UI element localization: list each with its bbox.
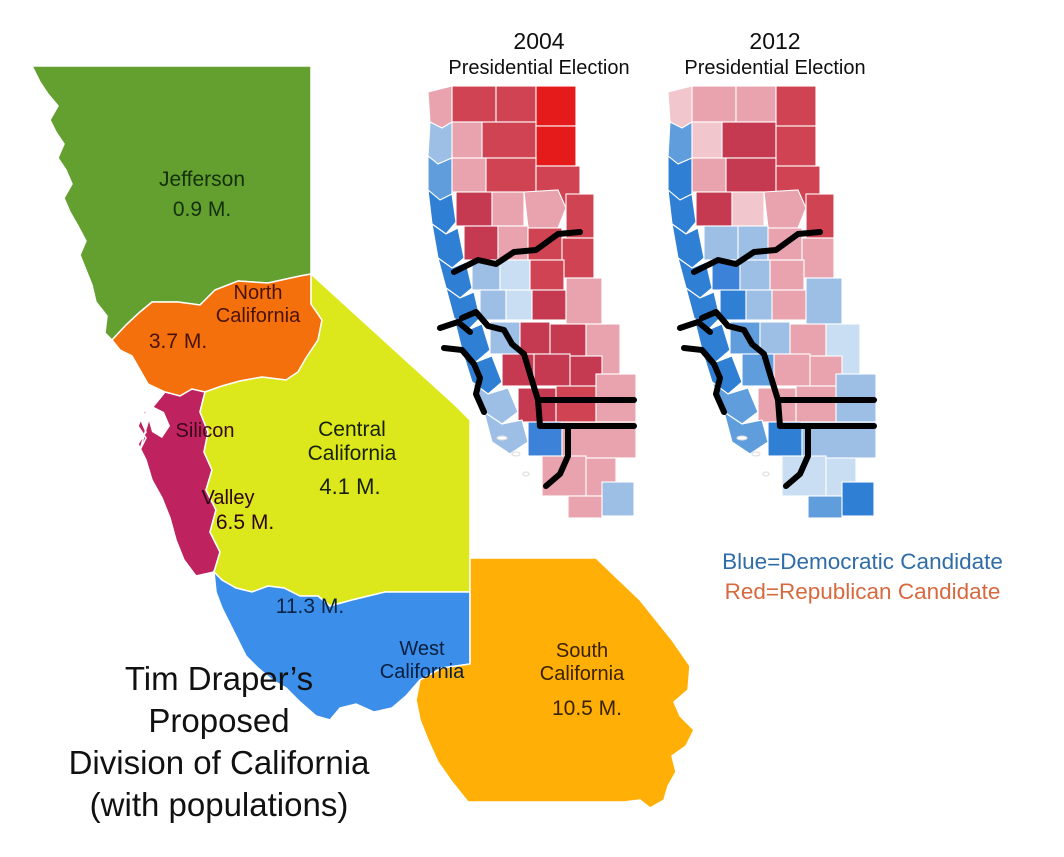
county	[456, 192, 492, 226]
island	[497, 436, 507, 440]
election-subtitle-2012: Presidential Election	[650, 56, 900, 80]
county	[802, 238, 834, 278]
island	[752, 452, 760, 456]
county	[536, 126, 576, 166]
county	[692, 158, 726, 192]
county	[482, 122, 536, 158]
election-year-2012: 2012	[650, 28, 900, 56]
island	[763, 472, 769, 476]
caption-line-4: (with populations)	[14, 784, 424, 826]
county	[776, 86, 816, 126]
county	[760, 322, 790, 354]
county	[790, 324, 826, 356]
caption-line-3: Division of California	[14, 742, 424, 784]
county	[524, 190, 566, 228]
island	[512, 452, 520, 456]
election-subtitle-2004: Presidential Election	[414, 56, 664, 80]
county	[496, 86, 536, 122]
county	[492, 192, 524, 226]
county	[550, 324, 586, 356]
county	[692, 86, 736, 122]
election-title-2004: 2004 Presidential Election	[414, 28, 664, 80]
county	[722, 122, 776, 158]
county	[556, 386, 596, 422]
county	[452, 86, 496, 122]
island	[737, 436, 747, 440]
county	[602, 482, 634, 516]
county	[500, 260, 530, 290]
main-caption: Tim Draper’s Proposed Division of Califo…	[14, 658, 424, 826]
county	[732, 192, 764, 226]
county	[562, 238, 594, 278]
county	[536, 86, 576, 126]
county	[806, 278, 842, 324]
county	[452, 122, 482, 158]
county	[696, 192, 732, 226]
county	[568, 496, 602, 518]
county	[566, 278, 602, 324]
county	[486, 158, 536, 192]
caption-line-1: Tim Draper’s	[14, 658, 424, 700]
county	[692, 122, 722, 158]
election-map-2012	[658, 82, 898, 522]
infographic-canvas: Jefferson 0.9 M. North California 3.7 M.…	[0, 0, 1064, 857]
county	[428, 86, 452, 128]
county	[808, 496, 842, 518]
island	[523, 472, 529, 476]
county	[464, 226, 498, 260]
legend-democratic: Blue=Democratic Candidate	[690, 547, 1035, 577]
county	[452, 158, 486, 192]
county	[668, 86, 692, 128]
county	[772, 290, 806, 320]
county	[532, 290, 566, 320]
county	[506, 290, 532, 320]
county	[428, 122, 452, 164]
election-title-2012: 2012 Presidential Election	[650, 28, 900, 80]
county	[796, 386, 836, 422]
election-legend: Blue=Democratic Candidate Red=Republican…	[690, 547, 1035, 608]
county	[770, 260, 804, 290]
county	[746, 290, 772, 320]
county	[842, 482, 874, 516]
county	[720, 290, 746, 320]
legend-republican: Red=Republican Candidate	[690, 577, 1035, 607]
election-year-2004: 2004	[414, 28, 664, 56]
county	[520, 322, 550, 354]
caption-line-2: Proposed	[14, 700, 424, 742]
county	[764, 190, 806, 228]
county	[668, 122, 692, 164]
county	[740, 260, 770, 290]
county	[480, 290, 506, 320]
county	[530, 260, 564, 290]
election-map-2004	[418, 82, 658, 522]
county	[774, 354, 810, 386]
county	[776, 126, 816, 166]
county	[704, 226, 738, 260]
county	[736, 86, 776, 122]
county	[726, 158, 776, 192]
county	[534, 354, 570, 386]
